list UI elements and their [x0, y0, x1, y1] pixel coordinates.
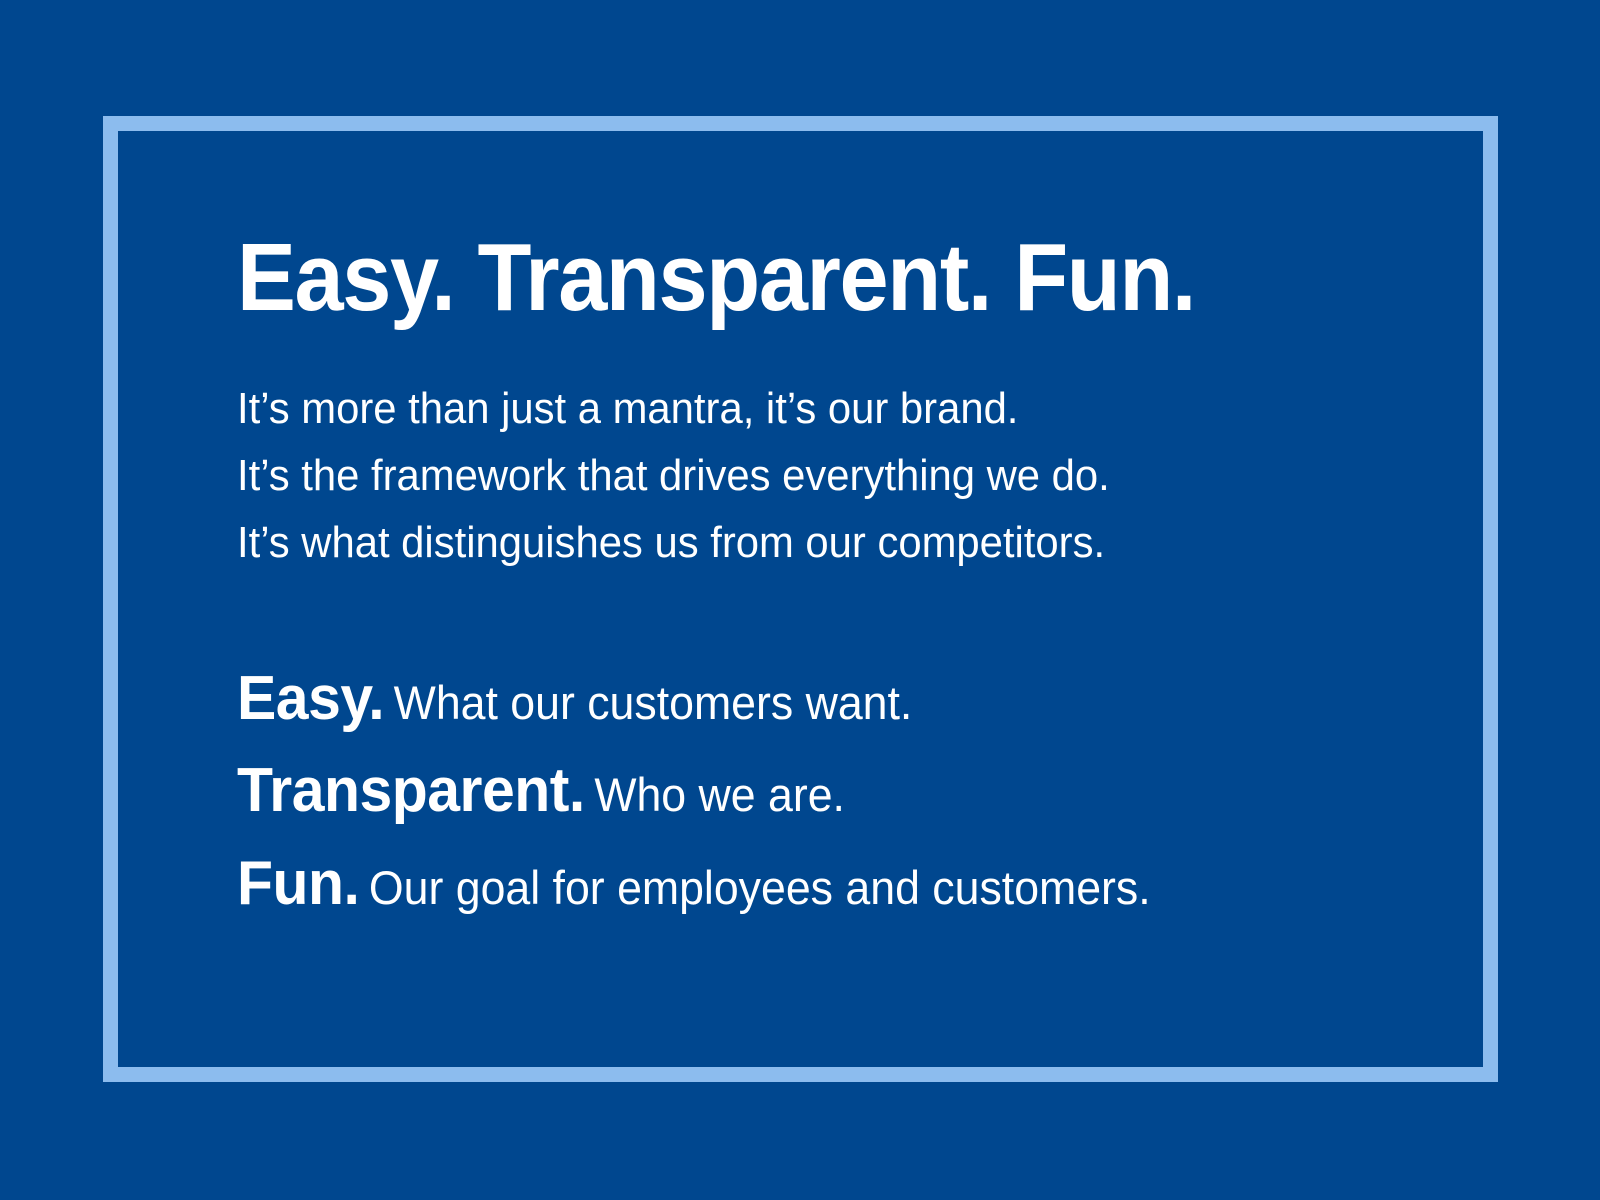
slide-content: Easy. Transparent. Fun. It’s more than j…	[237, 230, 1377, 936]
definition-term-transparent: Transparent.	[237, 756, 585, 825]
definition-description-transparent: Who we are.	[594, 768, 845, 821]
intro-line-1: It’s more than just a mantra, it’s our b…	[237, 376, 1320, 443]
intro-paragraph: It’s more than just a mantra, it’s our b…	[237, 376, 1377, 577]
definition-term-fun: Fun.	[237, 849, 359, 918]
definition-item-transparent: Transparent.Who we are.	[237, 751, 1320, 832]
definition-term-easy: Easy.	[237, 664, 384, 733]
definition-item-fun: Fun.Our goal for employees and customers…	[237, 844, 1320, 925]
intro-line-3: It’s what distinguishes us from our comp…	[237, 510, 1320, 577]
intro-line-2: It’s the framework that drives everythin…	[237, 443, 1320, 510]
definition-item-easy: Easy.What our customers want.	[237, 659, 1320, 740]
definition-description-fun: Our goal for employees and customers.	[369, 861, 1151, 914]
slide-canvas: Easy. Transparent. Fun. It’s more than j…	[0, 0, 1600, 1200]
definition-description-easy: What our customers want.	[394, 676, 913, 729]
page-title: Easy. Transparent. Fun.	[237, 230, 1286, 326]
definition-list: Easy.What our customers want. Transparen…	[237, 659, 1377, 925]
